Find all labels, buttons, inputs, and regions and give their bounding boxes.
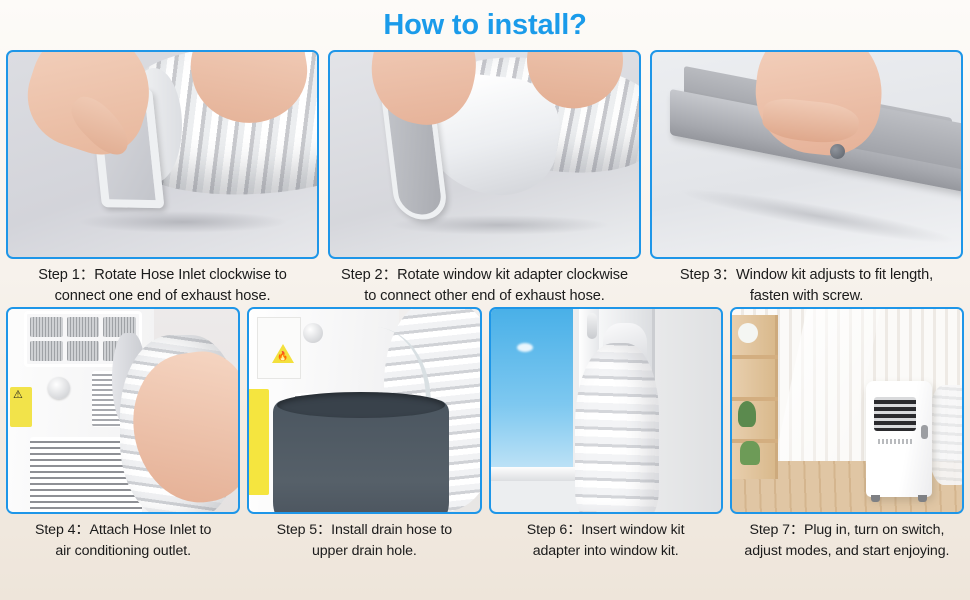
exhaust-hose-illustration <box>928 385 964 485</box>
step-3-caption-line1: Step 3：Window kit adjusts to fit length, <box>650 265 963 286</box>
drop-shadow <box>390 215 610 235</box>
portable-air-conditioner-illustration <box>866 381 932 497</box>
step-card-7: Step 7：Plug in, turn on switch, adjust m… <box>730 307 964 562</box>
caster-wheel-illustration <box>918 495 927 502</box>
steps-row-bottom: Step 4：Attach Hose Inlet to air conditio… <box>0 307 970 562</box>
step-4-caption-line2: air conditioning outlet. <box>6 541 240 562</box>
potted-plant-illustration <box>738 401 756 427</box>
step-card-1: Step 1：Rotate Hose Inlet clockwise to co… <box>6 50 319 307</box>
step-4-caption: Step 4：Attach Hose Inlet to air conditio… <box>6 514 240 562</box>
step-3-image <box>650 50 963 259</box>
interior-wall-illustration <box>655 309 723 514</box>
drop-shadow <box>682 181 952 251</box>
water-bucket-illustration <box>273 400 449 514</box>
caster-wheel-illustration <box>871 495 880 502</box>
side-handle-illustration <box>921 425 928 439</box>
warning-label-icon <box>10 387 32 427</box>
yellow-warning-strip-icon <box>247 389 269 495</box>
step-5-caption-line1: Step 5：Install drain hose to <box>247 520 481 541</box>
step-4-caption-line1: Step 4：Attach Hose Inlet to <box>6 520 240 541</box>
flower-decor-illustration <box>738 323 758 343</box>
step-1-caption-line2: connect one end of exhaust hose. <box>6 286 319 307</box>
step-card-6: Step 6：Insert window kit adapter into wi… <box>489 307 723 562</box>
drop-shadow <box>78 211 288 233</box>
step-3-caption-line2: fasten with screw. <box>650 286 963 307</box>
window-latch-illustration <box>587 313 597 339</box>
caution-label-icon <box>257 317 301 379</box>
step-7-image <box>730 307 964 514</box>
step-card-3: Step 3：Window kit adjusts to fit length,… <box>650 50 963 307</box>
step-2-caption-line1: Step 2：Rotate window kit adapter clockwi… <box>328 265 641 286</box>
exhaust-hose-illustration <box>575 343 659 514</box>
step-4-image <box>6 307 240 514</box>
step-card-4: Step 4：Attach Hose Inlet to air conditio… <box>6 307 240 562</box>
screw-illustration <box>830 144 845 159</box>
brand-logo <box>878 439 912 444</box>
step-5-caption: Step 5：Install drain hose to upper drain… <box>247 514 481 562</box>
step-6-image <box>489 307 723 514</box>
step-5-image <box>247 307 481 514</box>
step-3-caption: Step 3：Window kit adjusts to fit length,… <box>650 259 963 307</box>
potted-plant-illustration <box>740 441 760 465</box>
step-7-caption-line2: adjust modes, and start enjoying. <box>730 541 964 562</box>
step-1-caption-line1: Step 1：Rotate Hose Inlet clockwise to <box>6 265 319 286</box>
step-1-caption: Step 1：Rotate Hose Inlet clockwise to co… <box>6 259 319 307</box>
sky-through-window-illustration <box>491 309 573 469</box>
step-1-image <box>6 50 319 259</box>
step-6-caption: Step 6：Insert window kit adapter into wi… <box>489 514 723 562</box>
step-6-caption-line2: adapter into window kit. <box>489 541 723 562</box>
step-2-caption-line2: to connect other end of exhaust hose. <box>328 286 641 307</box>
air-outlet-vent-illustration <box>874 397 916 431</box>
step-7-caption-line1: Step 7：Plug in, turn on switch, <box>730 520 964 541</box>
page-title: How to install? <box>0 0 970 50</box>
step-7-caption: Step 7：Plug in, turn on switch, adjust m… <box>730 514 964 562</box>
step-card-5: Step 5：Install drain hose to upper drain… <box>247 307 481 562</box>
step-card-2: Step 2：Rotate window kit adapter clockwi… <box>328 50 641 307</box>
step-5-caption-line2: upper drain hole. <box>247 541 481 562</box>
step-6-caption-line1: Step 6：Insert window kit <box>489 520 723 541</box>
window-sill-illustration <box>491 467 583 481</box>
drain-port-knob-illustration <box>48 377 70 399</box>
step-2-image <box>328 50 641 259</box>
step-2-caption: Step 2：Rotate window kit adapter clockwi… <box>328 259 641 307</box>
flammable-triangle-icon <box>272 344 294 363</box>
steps-row-top: Step 1：Rotate Hose Inlet clockwise to co… <box>0 50 970 307</box>
cloud-illustration <box>517 343 533 352</box>
